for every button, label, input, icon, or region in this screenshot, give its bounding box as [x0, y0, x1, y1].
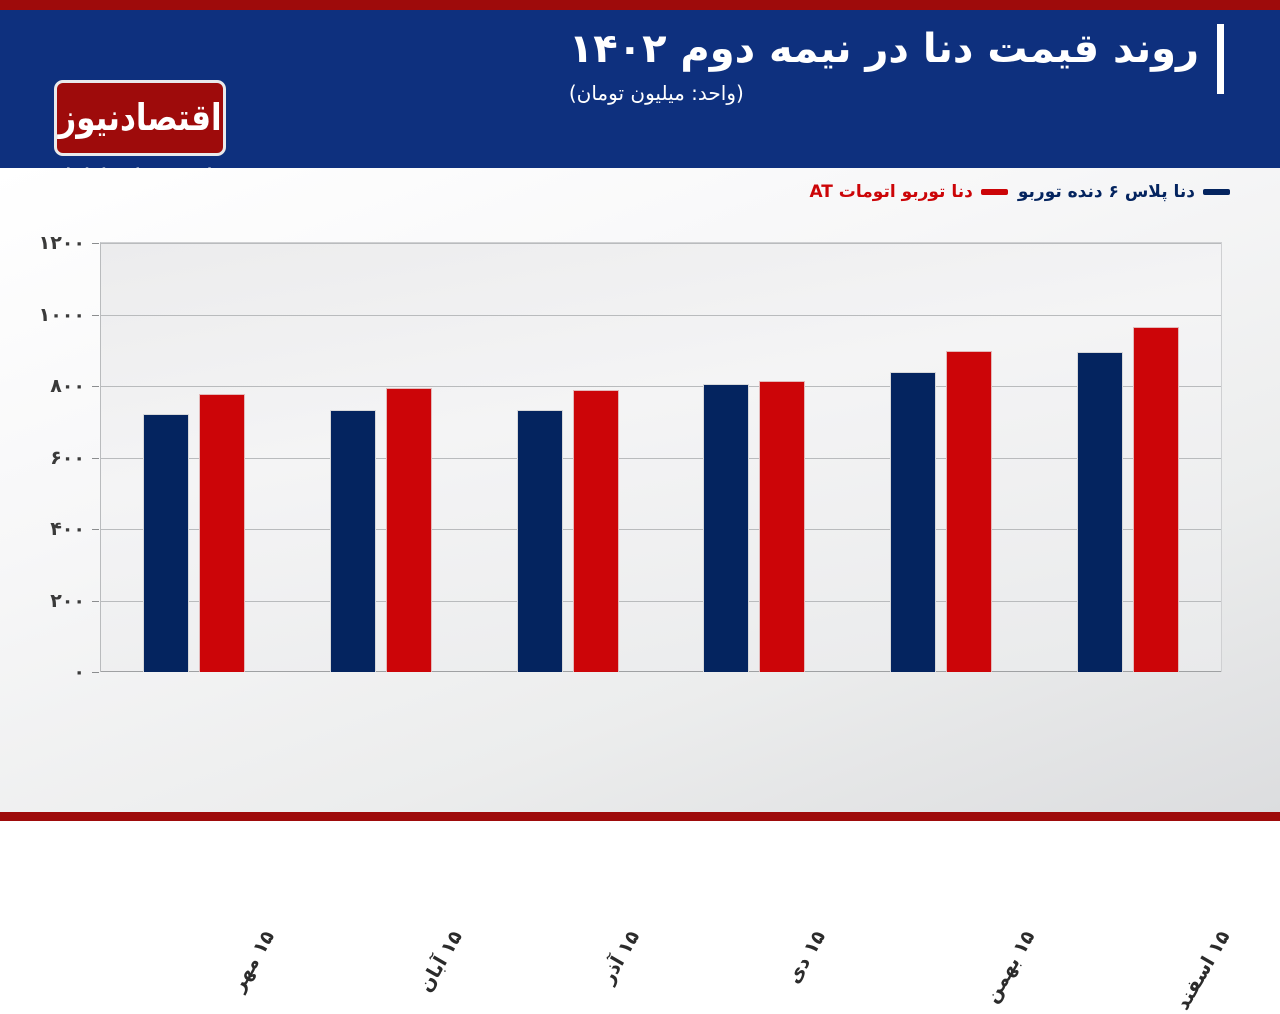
legend-label-navy: دنا پلاس ۶ دنده توربو — [1018, 182, 1195, 202]
x-axis-label: ۱۵ اسفند — [1171, 927, 1234, 1014]
y-axis-tick-mark — [92, 529, 99, 530]
legend-swatch-navy — [1203, 189, 1230, 195]
title-block: روند قیمت دنا در نیمه دوم ۱۴۰۲ (واحد: می… — [569, 24, 1224, 106]
page-title: روند قیمت دنا در نیمه دوم ۱۴۰۲ — [569, 24, 1199, 74]
y-axis-tick-mark — [92, 672, 99, 673]
bar-groups — [101, 243, 1221, 672]
y-axis-tick-mark — [92, 601, 99, 602]
y-axis-tick-label: ۲۰۰ — [0, 590, 95, 612]
y-axis-tick-mark — [92, 315, 99, 316]
y-axis-tick-label: ۴۰۰ — [0, 518, 95, 540]
bar-red[interactable] — [199, 394, 245, 672]
x-axis-label: ۱۵ دی — [783, 927, 831, 987]
y-axis-tick-mark — [92, 386, 99, 387]
y-axis-tick-label: ۱۰۰۰ — [0, 304, 95, 326]
bar-navy[interactable] — [1077, 352, 1123, 672]
y-axis-tick-label: ۸۰۰ — [0, 375, 95, 397]
chart-plot-area: ۱۲۰۰۱۰۰۰۸۰۰۶۰۰۴۰۰۲۰۰۰ ۱۵ مهر۱۵ آبان۱۵ آذ… — [100, 242, 1222, 672]
bar-red[interactable] — [946, 351, 992, 672]
x-axis-label: ۱۵ آبان — [414, 927, 466, 996]
y-axis-tick-label: ۰ — [0, 661, 95, 683]
x-axis-label: ۱۵ آذر — [596, 927, 644, 987]
bar-red[interactable] — [759, 381, 805, 672]
x-axis-label: ۱۵ مهر — [227, 927, 279, 995]
bar-navy[interactable] — [517, 410, 563, 672]
y-axis-tick-label: ۶۰۰ — [0, 447, 95, 469]
y-axis-tick-mark — [92, 243, 99, 244]
bar-navy[interactable] — [330, 410, 376, 672]
bar-red[interactable] — [573, 390, 619, 672]
chart-legend: دنا پلاس ۶ دنده توربو دنا توربو اتومات A… — [809, 182, 1230, 202]
bar-navy[interactable] — [143, 414, 189, 672]
bar-red[interactable] — [386, 388, 432, 672]
y-axis-tick-label: ۱۲۰۰ — [0, 232, 95, 254]
title-accent-bar — [1217, 24, 1224, 94]
legend-swatch-red — [981, 189, 1008, 195]
bar-navy[interactable] — [890, 372, 936, 672]
legend-item-dena-plus-6speed-turbo[interactable]: دنا پلاس ۶ دنده توربو — [1018, 182, 1230, 202]
bar-navy[interactable] — [703, 384, 749, 672]
legend-label-red: دنا توربو اتومات AT — [809, 182, 972, 202]
bar-red[interactable] — [1133, 327, 1179, 672]
logo-box: اقتصادنیوز — [54, 80, 226, 156]
y-axis-tick-mark — [92, 458, 99, 459]
legend-item-dena-turbo-at[interactable]: دنا توربو اتومات AT — [809, 182, 1007, 202]
bottom-accent-rule — [0, 812, 1280, 821]
top-accent-rule — [0, 0, 1280, 10]
page-subtitle-unit: (واحد: میلیون تومان) — [569, 80, 744, 106]
logo-wordmark: اقتصادنیوز — [58, 97, 221, 139]
x-axis-label: ۱۵ بهمن — [981, 927, 1040, 1007]
